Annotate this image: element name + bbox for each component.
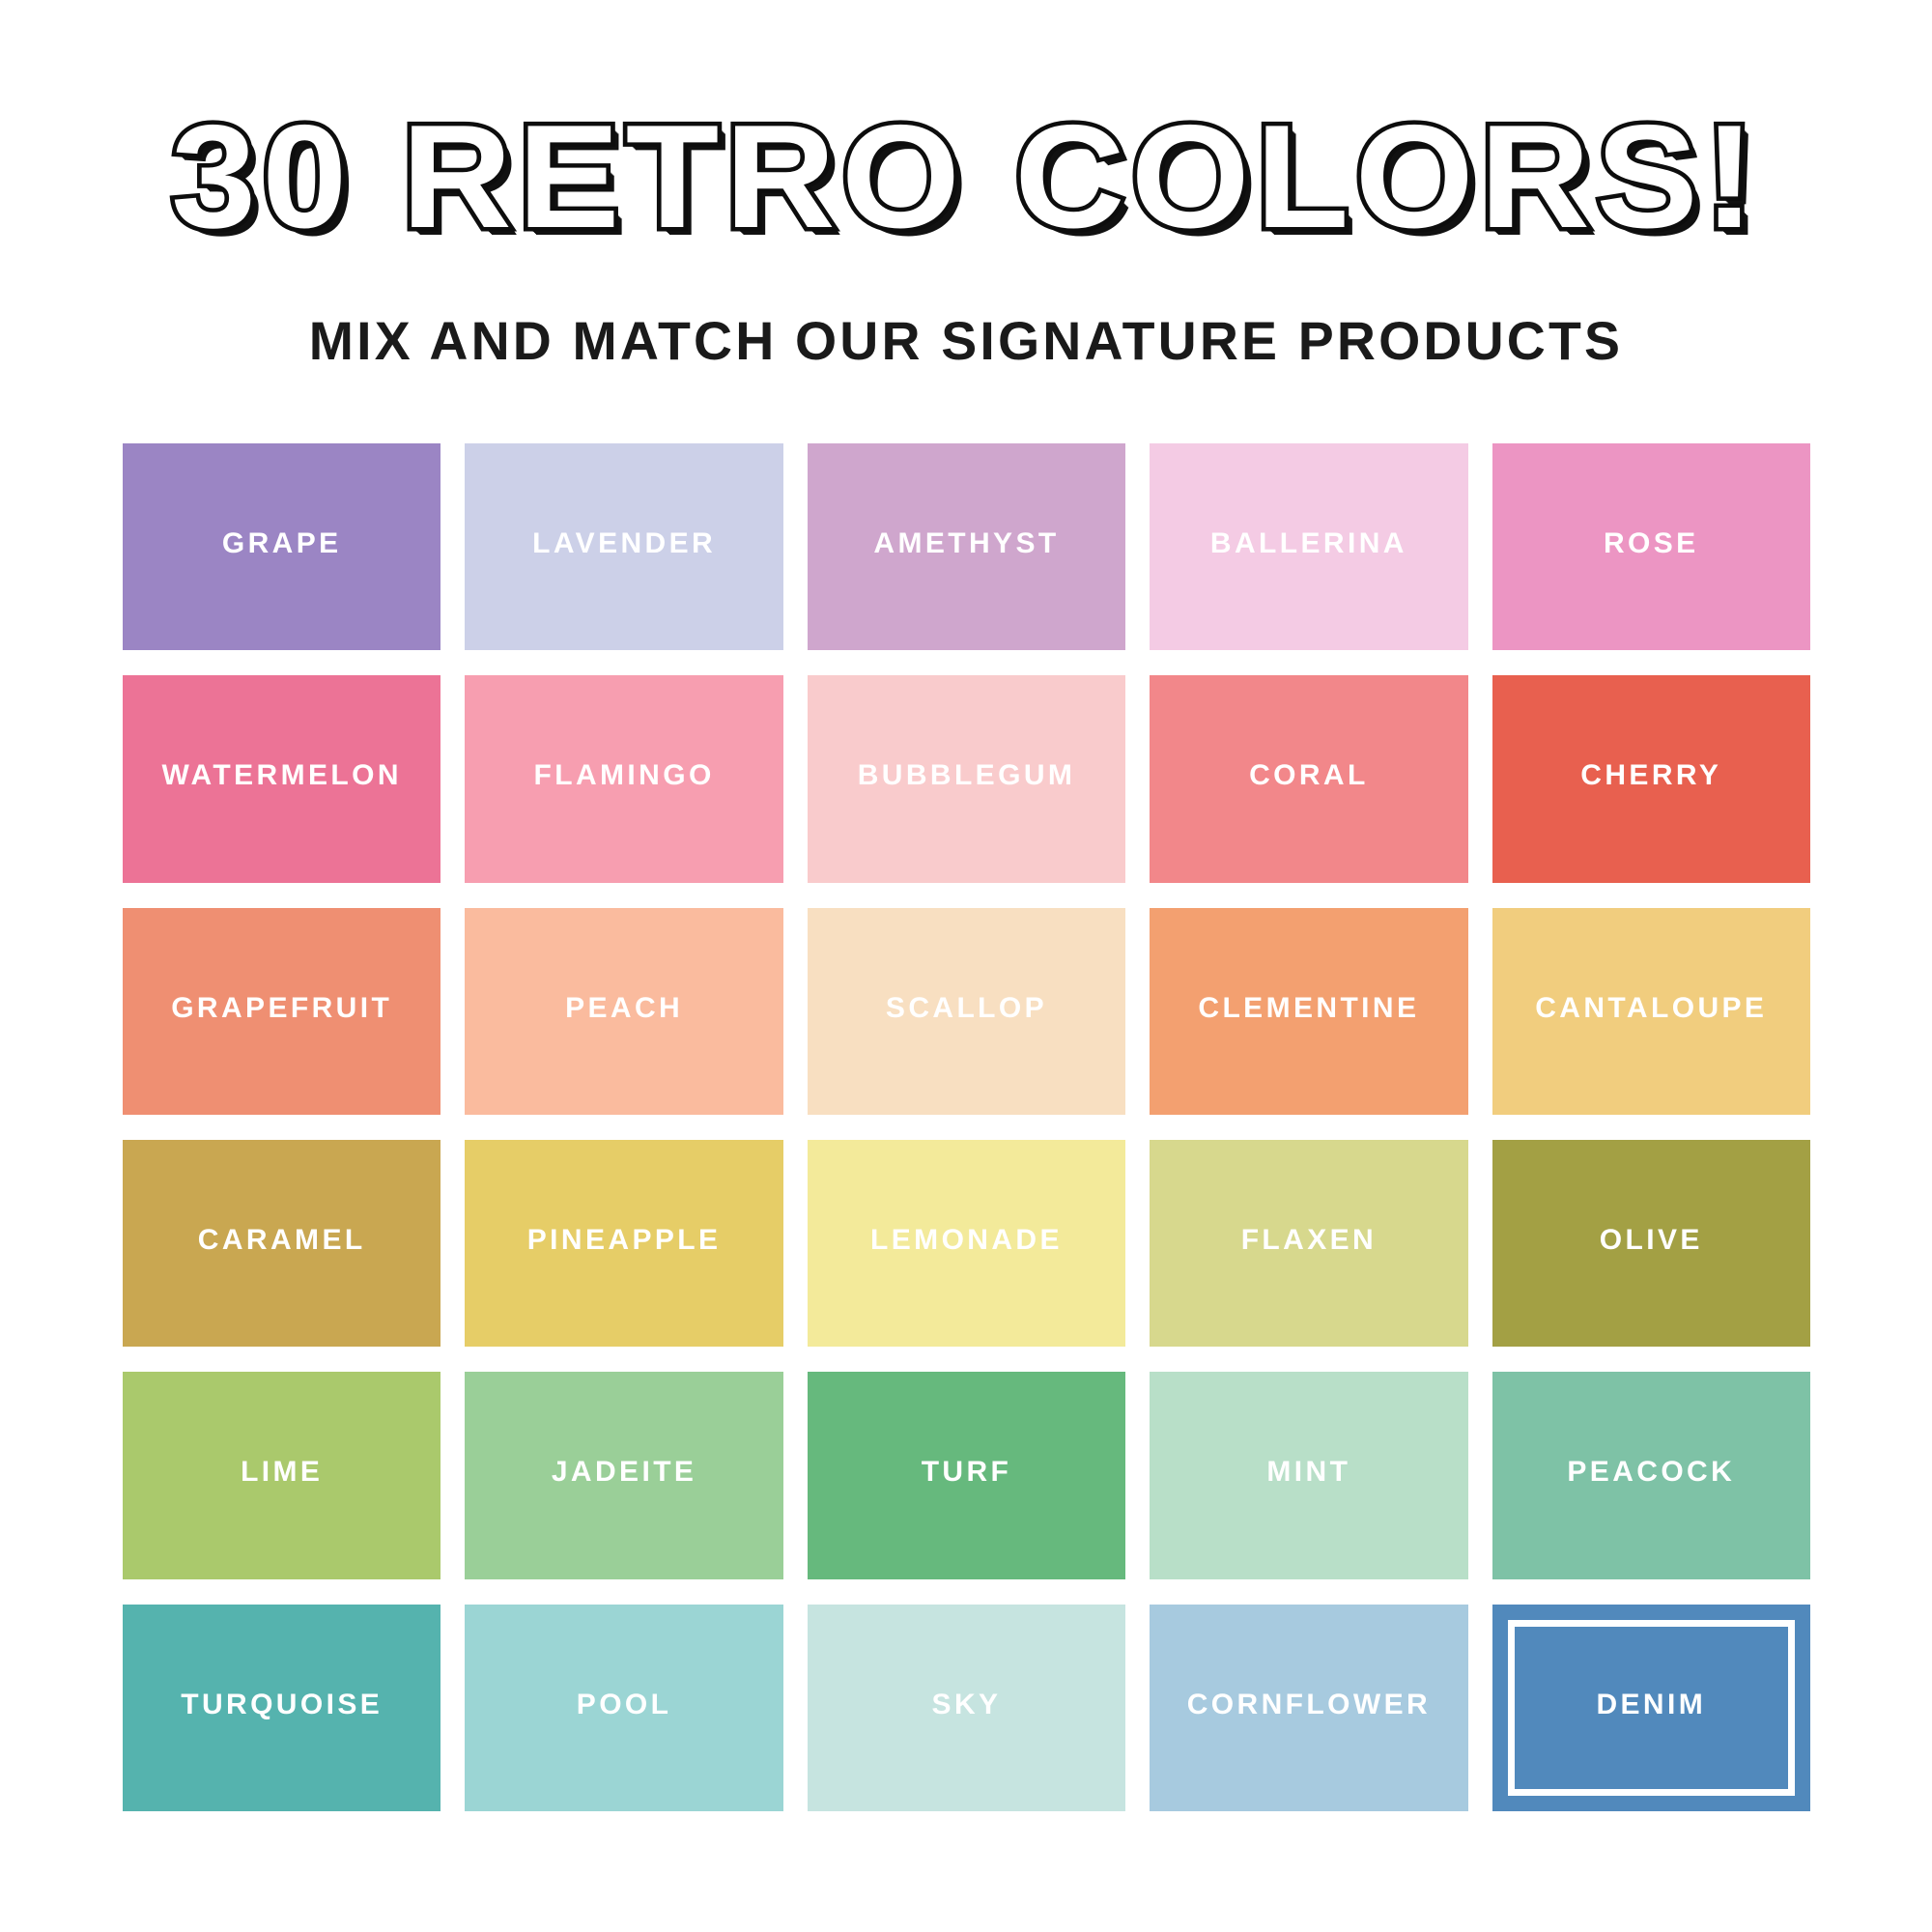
color-swatch-label: JADEITE bbox=[552, 1458, 697, 1487]
color-swatch-label: PINEAPPLE bbox=[527, 1226, 722, 1255]
color-swatch[interactable]: DENIM bbox=[1492, 1605, 1810, 1811]
color-swatch-label: CORNFLOWER bbox=[1187, 1690, 1431, 1719]
color-swatch-label: CANTALOUPE bbox=[1535, 994, 1767, 1023]
color-swatch-label: LIME bbox=[241, 1458, 323, 1487]
color-swatch[interactable]: TURQUOISE bbox=[123, 1605, 440, 1811]
color-swatch[interactable]: SCALLOP bbox=[808, 908, 1125, 1115]
color-swatch[interactable]: ROSE bbox=[1492, 443, 1810, 650]
color-swatch-label: WATERMELON bbox=[161, 761, 401, 790]
swatch-grid: GRAPELAVENDERAMETHYSTBALLERINAROSEWATERM… bbox=[123, 443, 1810, 1811]
page-title: 30 RETRO COLORS! 30 RETRO COLORS! bbox=[0, 95, 1932, 278]
page-title-fill: 30 RETRO COLORS! bbox=[0, 95, 1932, 259]
color-swatch-label: CARAMEL bbox=[198, 1226, 366, 1255]
color-swatch-label: PEACOCK bbox=[1567, 1458, 1735, 1487]
color-swatch[interactable]: JADEITE bbox=[465, 1372, 782, 1578]
color-swatch-label: BALLERINA bbox=[1210, 529, 1407, 558]
color-swatch[interactable]: WATERMELON bbox=[123, 675, 440, 882]
color-palette-poster: 30 RETRO COLORS! 30 RETRO COLORS! MIX AN… bbox=[0, 0, 1932, 1932]
color-swatch[interactable]: CLEMENTINE bbox=[1150, 908, 1467, 1115]
color-swatch-label: BUBBLEGUM bbox=[858, 761, 1076, 790]
color-swatch[interactable]: SKY bbox=[808, 1605, 1125, 1811]
color-swatch-label: FLAXEN bbox=[1241, 1226, 1377, 1255]
color-swatch-label: ROSE bbox=[1604, 529, 1699, 558]
color-swatch-label: SKY bbox=[932, 1690, 1002, 1719]
color-swatch-label: FLAMINGO bbox=[534, 761, 715, 790]
color-swatch-label: PEACH bbox=[565, 994, 683, 1023]
color-swatch[interactable]: AMETHYST bbox=[808, 443, 1125, 650]
color-swatch[interactable]: CANTALOUPE bbox=[1492, 908, 1810, 1115]
color-swatch-label: MINT bbox=[1266, 1458, 1350, 1487]
color-swatch[interactable]: MINT bbox=[1150, 1372, 1467, 1578]
color-swatch-label: POOL bbox=[577, 1690, 672, 1719]
color-swatch-label: DENIM bbox=[1596, 1690, 1706, 1719]
color-swatch-label: SCALLOP bbox=[886, 994, 1047, 1023]
poster-header: 30 RETRO COLORS! 30 RETRO COLORS! MIX AN… bbox=[0, 0, 1932, 372]
color-swatch-label: AMETHYST bbox=[873, 529, 1059, 558]
color-swatch[interactable]: PEACH bbox=[465, 908, 782, 1115]
color-swatch[interactable]: OLIVE bbox=[1492, 1140, 1810, 1347]
color-swatch[interactable]: CHERRY bbox=[1492, 675, 1810, 882]
color-swatch[interactable]: GRAPEFRUIT bbox=[123, 908, 440, 1115]
color-swatch[interactable]: GRAPE bbox=[123, 443, 440, 650]
color-swatch-label: CLEMENTINE bbox=[1198, 994, 1419, 1023]
color-swatch[interactable]: BUBBLEGUM bbox=[808, 675, 1125, 882]
color-swatch[interactable]: PEACOCK bbox=[1492, 1372, 1810, 1578]
color-swatch[interactable]: LIME bbox=[123, 1372, 440, 1578]
color-swatch[interactable]: PINEAPPLE bbox=[465, 1140, 782, 1347]
color-swatch[interactable]: FLAMINGO bbox=[465, 675, 782, 882]
page-subtitle: MIX AND MATCH OUR SIGNATURE PRODUCTS bbox=[10, 309, 1922, 372]
color-swatch[interactable]: CARAMEL bbox=[123, 1140, 440, 1347]
color-swatch-label: GRAPEFRUIT bbox=[171, 994, 392, 1023]
color-swatch-label: GRAPE bbox=[222, 529, 342, 558]
color-swatch-label: OLIVE bbox=[1600, 1226, 1703, 1255]
color-swatch-label: CHERRY bbox=[1580, 761, 1721, 790]
color-swatch[interactable]: POOL bbox=[465, 1605, 782, 1811]
color-swatch-label: TURQUOISE bbox=[181, 1690, 383, 1719]
color-swatch[interactable]: LAVENDER bbox=[465, 443, 782, 650]
color-swatch[interactable]: CORAL bbox=[1150, 675, 1467, 882]
color-swatch-label: LEMONADE bbox=[870, 1226, 1063, 1255]
color-swatch-label: CORAL bbox=[1249, 761, 1369, 790]
color-swatch[interactable]: BALLERINA bbox=[1150, 443, 1467, 650]
color-swatch[interactable]: CORNFLOWER bbox=[1150, 1605, 1467, 1811]
color-swatch[interactable]: LEMONADE bbox=[808, 1140, 1125, 1347]
color-swatch-label: LAVENDER bbox=[532, 529, 716, 558]
color-swatch[interactable]: FLAXEN bbox=[1150, 1140, 1467, 1347]
color-swatch-label: TURF bbox=[922, 1458, 1012, 1487]
color-swatch[interactable]: TURF bbox=[808, 1372, 1125, 1578]
